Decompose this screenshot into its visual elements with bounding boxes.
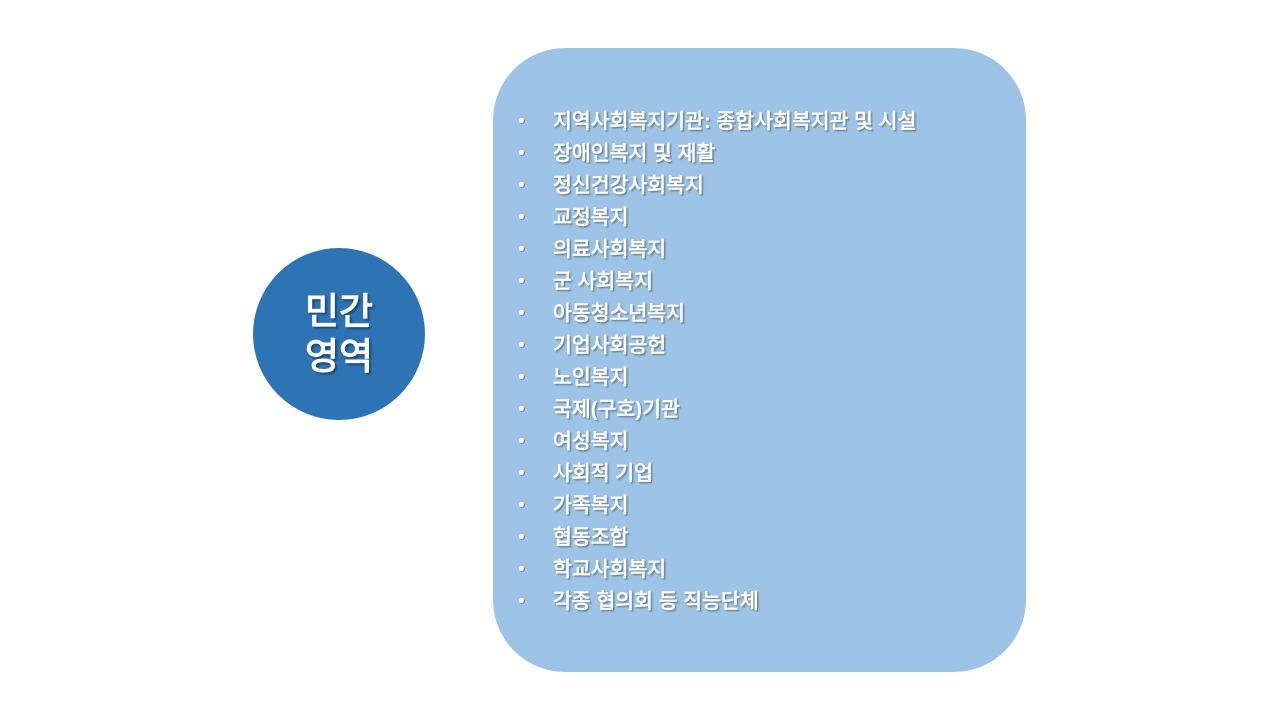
list-item-label: 협동조합 [553,522,1002,554]
bullet-dot-icon: • [493,170,553,202]
list-item-label: 아동청소년복지 [553,298,1002,330]
list-item[interactable]: • 국제(구호)기관 [493,394,1002,426]
list-item[interactable]: • 의료사회복지 [493,234,1002,266]
bullet-dot-icon: • [493,362,553,394]
list-item-label: 지역사회복지기관: 종합사회복지관 및 시설 [553,106,1002,138]
bullet-dot-icon: • [493,202,553,234]
list-item-label: 정신건강사회복지 [553,170,1002,202]
list-item[interactable]: • 기업사회공헌 [493,330,1002,362]
list-item-label: 기업사회공헌 [553,330,1002,362]
list-item[interactable]: • 교정복지 [493,202,1002,234]
bullet-dot-icon: • [493,522,553,554]
list-item-label: 각종 협의회 등 직능단체 [553,586,1002,618]
list-item[interactable]: • 정신건강사회복지 [493,170,1002,202]
private-sector-items-panel: • 지역사회복지기관: 종합사회복지관 및 시설 • 장애인복지 및 재활 • … [493,48,1026,672]
list-item[interactable]: • 협동조합 [493,522,1002,554]
list-item[interactable]: • 장애인복지 및 재활 [493,138,1002,170]
list-item-label: 가족복지 [553,490,1002,522]
list-item-label: 교정복지 [553,202,1002,234]
private-sector-circle-node[interactable]: 민간 영역 [253,248,425,420]
circle-label-line-2: 영역 [305,334,373,379]
list-item-label: 노인복지 [553,362,1002,394]
list-item[interactable]: • 지역사회복지기관: 종합사회복지관 및 시설 [493,106,1002,138]
list-item-label: 여성복지 [553,426,1002,458]
bullet-dot-icon: • [493,138,553,170]
circle-label-line-1: 민간 [305,289,373,334]
bullet-dot-icon: • [493,554,553,586]
list-item[interactable]: • 노인복지 [493,362,1002,394]
bullet-dot-icon: • [493,234,553,266]
bullet-list: • 지역사회복지기관: 종합사회복지관 및 시설 • 장애인복지 및 재활 • … [493,106,1002,618]
list-item-label: 의료사회복지 [553,234,1002,266]
bullet-dot-icon: • [493,330,553,362]
bullet-dot-icon: • [493,586,553,618]
list-item[interactable]: • 군 사회복지 [493,266,1002,298]
bullet-dot-icon: • [493,394,553,426]
list-item-label: 국제(구호)기관 [553,394,1002,426]
list-item[interactable]: • 각종 협의회 등 직능단체 [493,586,1002,618]
list-item-label: 학교사회복지 [553,554,1002,586]
list-item[interactable]: • 사회적 기업 [493,458,1002,490]
list-item[interactable]: • 아동청소년복지 [493,298,1002,330]
list-item[interactable]: • 학교사회복지 [493,554,1002,586]
bullet-dot-icon: • [493,458,553,490]
list-item-label: 사회적 기업 [553,458,1002,490]
list-item-label: 장애인복지 및 재활 [553,138,1002,170]
list-item[interactable]: • 가족복지 [493,490,1002,522]
bullet-dot-icon: • [493,426,553,458]
bullet-dot-icon: • [493,106,553,138]
list-item[interactable]: • 여성복지 [493,426,1002,458]
bullet-dot-icon: • [493,266,553,298]
bullet-dot-icon: • [493,490,553,522]
slide-canvas: 민간 영역 • 지역사회복지기관: 종합사회복지관 및 시설 • 장애인복지 및… [0,0,1280,720]
list-item-label: 군 사회복지 [553,266,1002,298]
bullet-dot-icon: • [493,298,553,330]
